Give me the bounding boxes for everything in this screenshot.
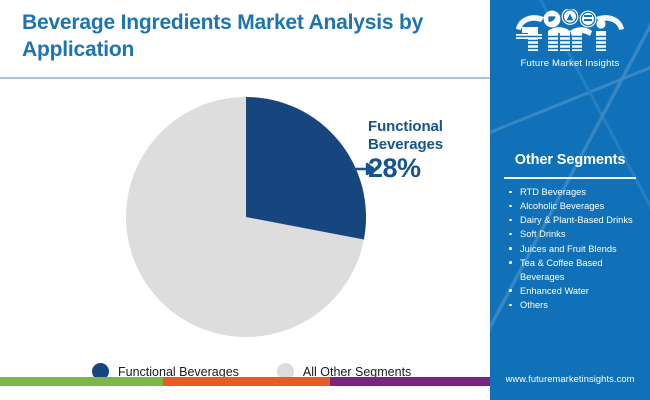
website-url[interactable]: www.futuremarketinsights.com: [490, 374, 650, 384]
list-item: Alcoholic Beverages: [507, 199, 645, 213]
pie-slice-functional-beverages[interactable]: [246, 97, 366, 239]
footer-segment-green: [0, 377, 163, 386]
sidebar-panel: Future Market Insights Other Segments RT…: [490, 0, 650, 400]
callout-label: Functional Beverages: [368, 118, 486, 153]
callout-value: 28%: [368, 154, 486, 182]
callout-functional-beverages: Functional Beverages 28%: [368, 118, 486, 183]
pie-chart: [126, 97, 366, 337]
page-title: Beverage Ingredients Market Analysis by …: [22, 10, 452, 64]
footer-segment-purple: [330, 377, 490, 386]
list-item: Others: [507, 298, 645, 312]
pie-chart-svg: [126, 97, 366, 337]
fmi-logo-tagline: Future Market Insights: [490, 58, 650, 69]
list-item: Dairy & Plant-Based Drinks: [507, 213, 645, 227]
list-item: Tea & Coffee Based Beverages: [507, 256, 645, 284]
callout-label-line1: Functional: [368, 118, 443, 135]
list-item: RTD Beverages: [507, 185, 645, 199]
fmi-logo[interactable]: Future Market Insights: [490, 9, 650, 69]
footer-segment-orange: [163, 377, 330, 386]
callout-label-line2: Beverages: [368, 136, 443, 153]
list-item: Juices and Fruit Blends: [507, 242, 645, 256]
infographic-page: Beverage Ingredients Market Analysis by …: [0, 0, 650, 400]
list-item: Enhanced Water: [507, 284, 645, 298]
footer-color-bar: [0, 377, 490, 386]
main-content-area: Beverage Ingredients Market Analysis by …: [0, 0, 490, 386]
fmi-logo-mark: [508, 9, 632, 55]
segments-heading-underline: [504, 177, 636, 179]
list-item: Soft Drinks: [507, 227, 645, 241]
title-divider: [0, 77, 490, 79]
segments-heading: Other Segments: [490, 152, 650, 168]
segments-list: RTD Beverages Alcoholic Beverages Dairy …: [507, 185, 645, 312]
